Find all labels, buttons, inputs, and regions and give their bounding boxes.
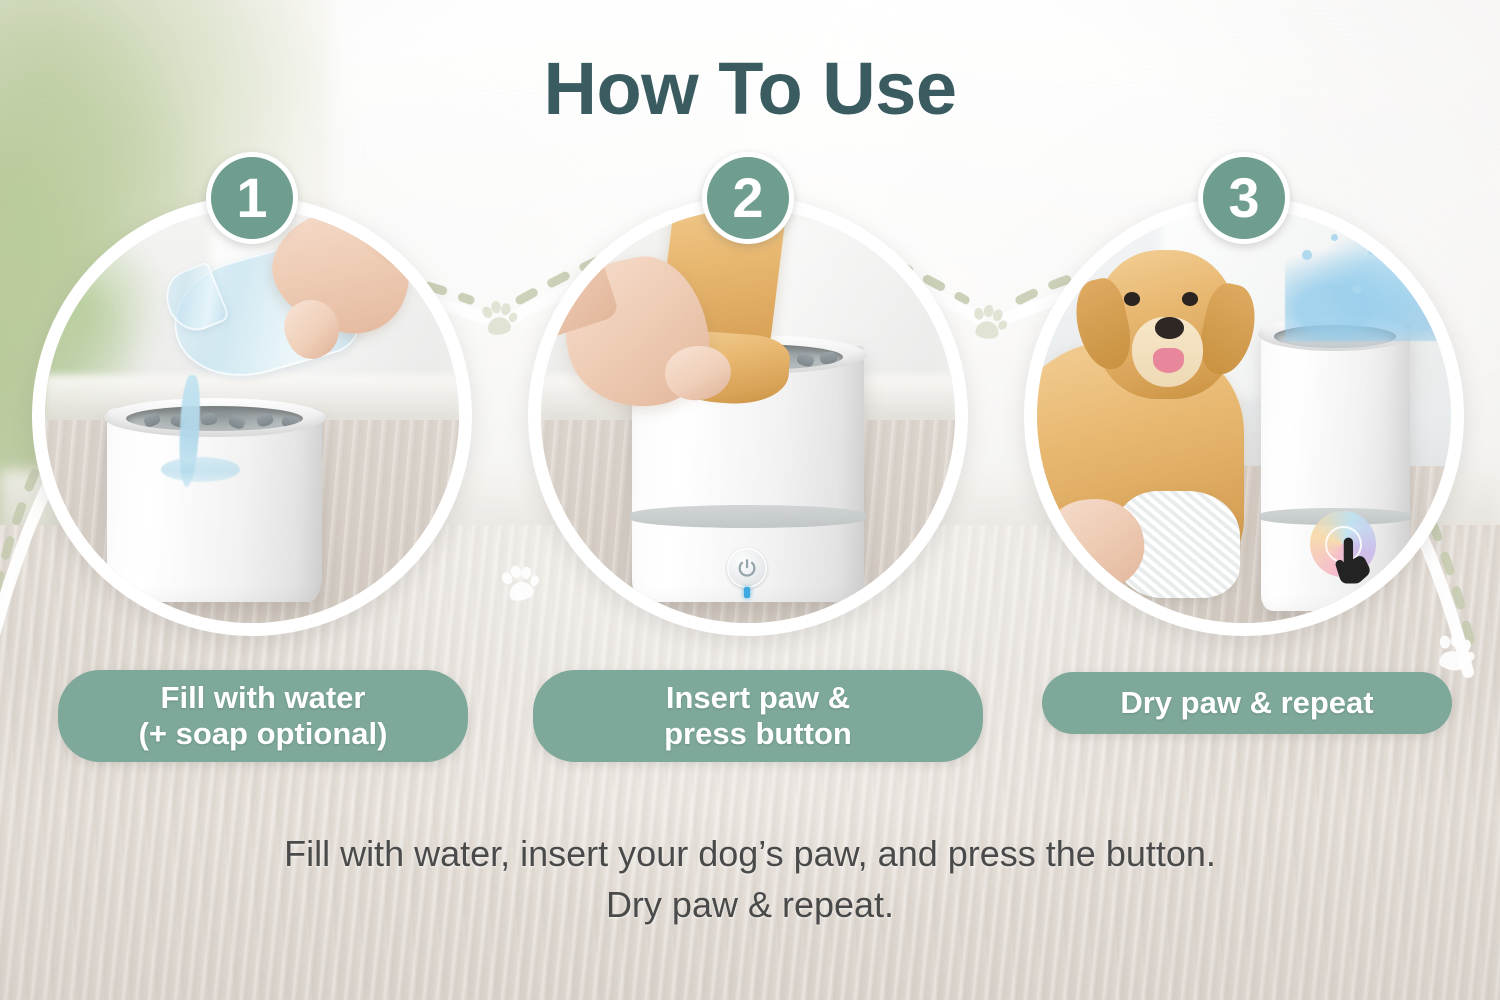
summary-caption: Fill with water, insert your dog’s paw, … (120, 828, 1380, 930)
power-glyph-icon (736, 557, 758, 579)
step-2-photo-image (541, 209, 955, 623)
power-button-icon[interactable] (727, 548, 766, 587)
step-2-label-line1: Insert paw & (666, 680, 850, 715)
step-3-photo-ring (1024, 196, 1464, 636)
step-2-photo (528, 196, 968, 636)
step-3-photo (1024, 196, 1464, 636)
step-1-photo-ring (32, 196, 472, 636)
step-2-label-line2: press button (664, 716, 852, 751)
step-3-photo-image (1037, 209, 1451, 623)
silicone-bristles-icon (126, 406, 303, 431)
caption-line-1: Fill with water, insert your dog’s paw, … (120, 828, 1380, 879)
step-2-number-badge: 2 (702, 152, 794, 244)
step-3-label-line1: Dry paw & repeat (1120, 685, 1373, 721)
device-band-icon (630, 505, 866, 528)
water-pool-icon (161, 457, 240, 482)
step-2-label-pill: Insert paw & press button (533, 670, 983, 762)
step-2-photo-ring (528, 196, 968, 636)
step-1-photo-image (45, 209, 459, 623)
step-1-label-line1: Fill with water (161, 680, 366, 715)
step-1-label-line2: (+ soap optional) (139, 716, 388, 751)
page-title: How To Use (0, 46, 1500, 131)
caption-line-2: Dry paw & repeat. (120, 879, 1380, 930)
step-1-label-pill: Fill with water (+ soap optional) (58, 670, 468, 762)
step-3-label-pill: Dry paw & repeat (1042, 672, 1452, 734)
step-3-number-badge: 3 (1198, 152, 1290, 244)
pointing-hand-icon (1331, 536, 1372, 586)
paw-cleaner-device-icon (107, 408, 322, 603)
dog-tongue-icon (1153, 348, 1184, 373)
led-indicator-icon (744, 587, 750, 599)
step-1-photo (32, 196, 472, 636)
step-1-number-badge: 1 (206, 152, 298, 244)
dog-nose-icon (1155, 317, 1184, 340)
